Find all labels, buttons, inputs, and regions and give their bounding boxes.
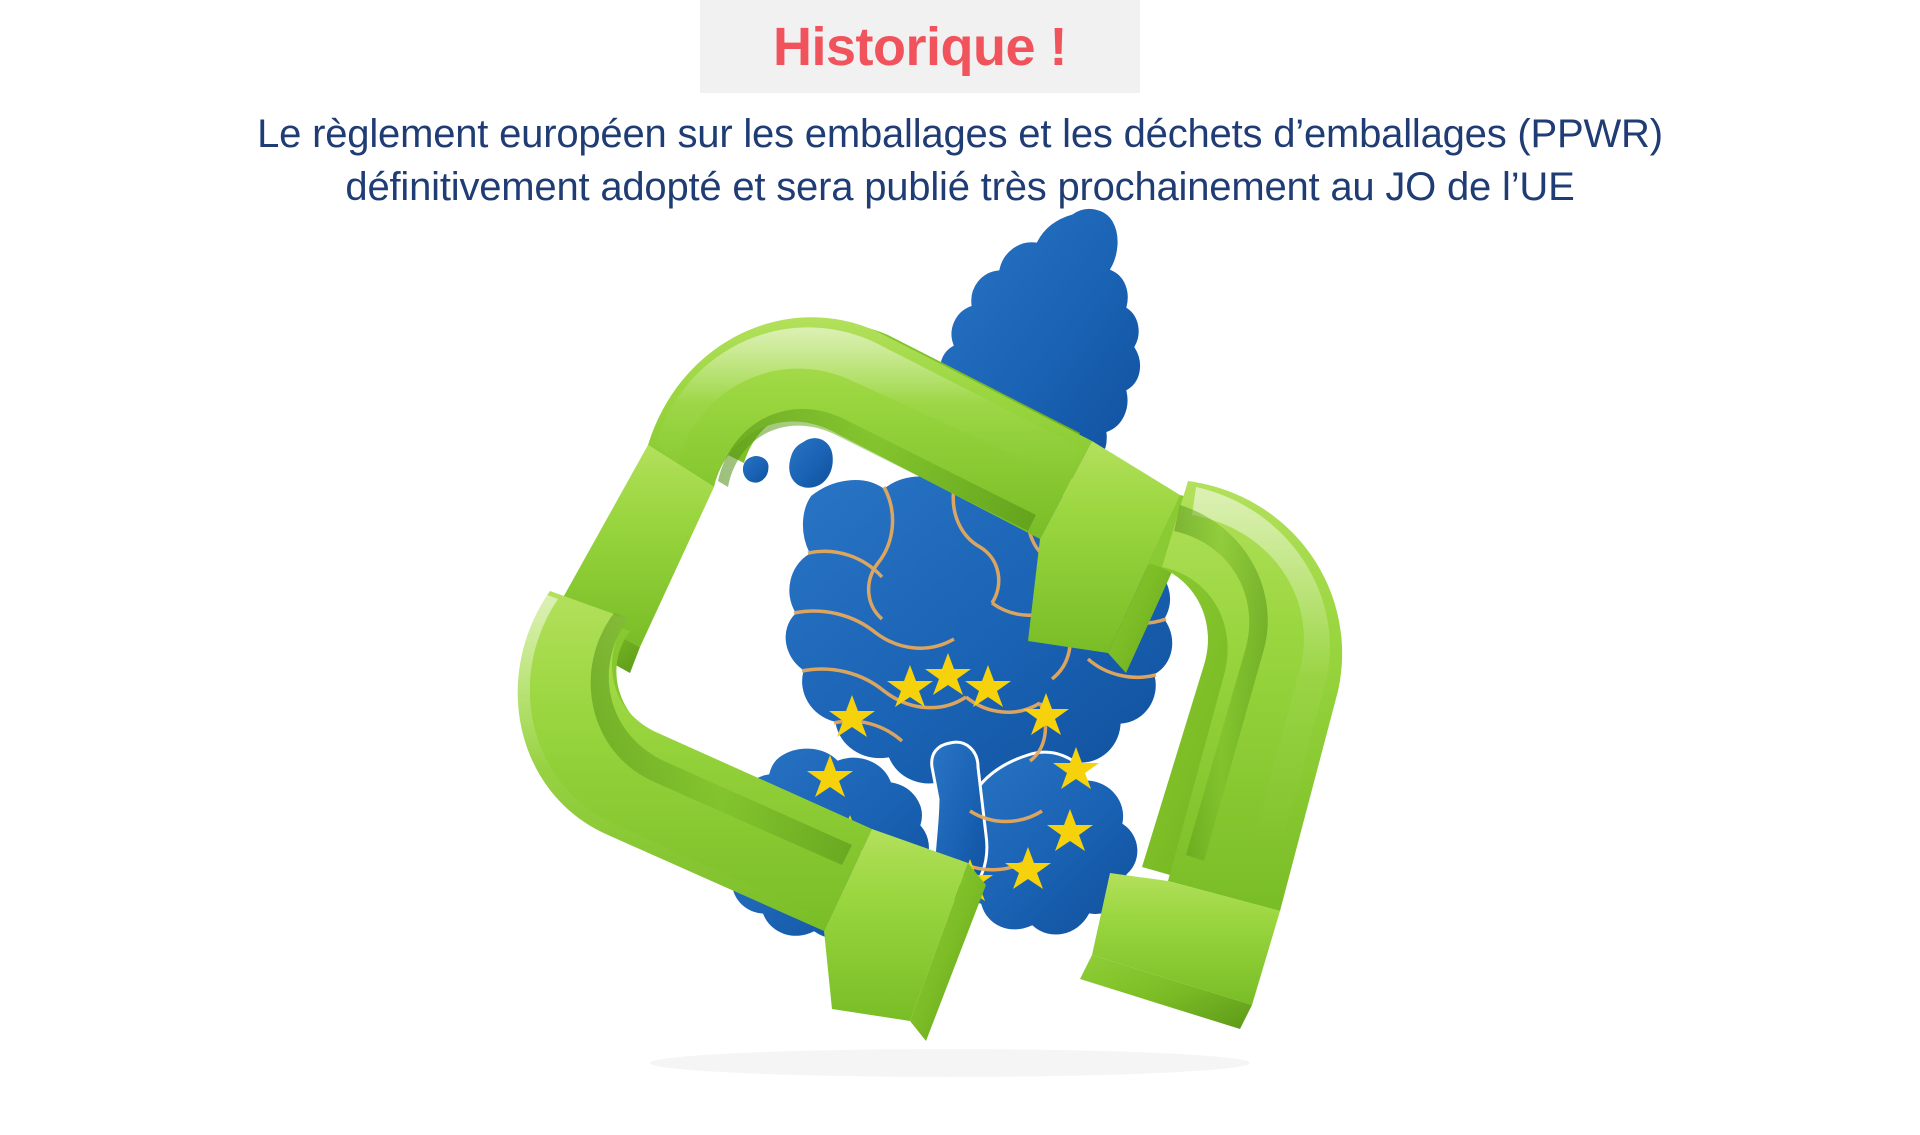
eu-recycling-svg [480, 195, 1440, 1095]
page-title: Historique ! [773, 20, 1067, 74]
logo-shadow [650, 1049, 1250, 1077]
slide-root: Historique ! Le règlement européen sur l… [0, 0, 1920, 1135]
subtitle-line-1: Le règlement européen sur les emballages… [0, 108, 1920, 161]
map-region-island-small [741, 455, 770, 484]
eu-recycling-logo [480, 195, 1440, 1095]
title-band: Historique ! [700, 0, 1140, 93]
map-region-islands [788, 437, 835, 490]
